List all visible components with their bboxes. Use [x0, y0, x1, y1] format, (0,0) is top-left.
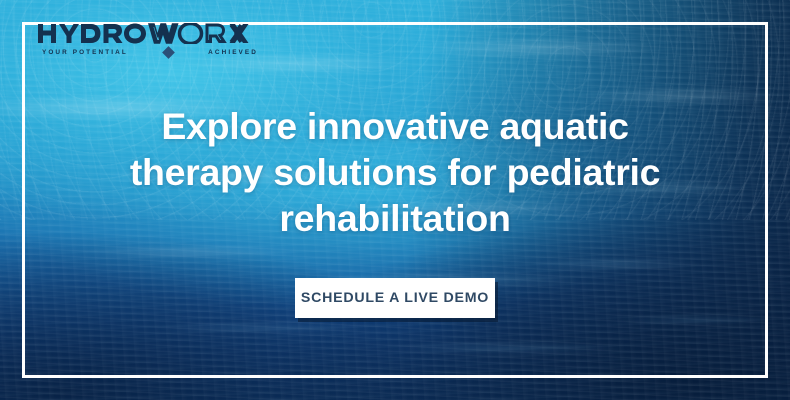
- logo-tagline: YOUR POTENTIAL ACHIEVED: [38, 48, 260, 57]
- headline-line-2: therapy solutions for pediatric: [78, 149, 712, 195]
- headline-line-3: rehabilitation: [78, 195, 712, 241]
- hydroworx-logo[interactable]: YOUR POTENTIAL ACHIEVED: [38, 23, 260, 57]
- headline-line-1: Explore innovative aquatic: [78, 103, 712, 149]
- schedule-demo-button[interactable]: SCHEDULE A LIVE DEMO: [295, 278, 495, 318]
- diamond-icon: [162, 46, 175, 59]
- promo-banner: YOUR POTENTIAL ACHIEVED Explore innovati…: [0, 0, 790, 400]
- headline: Explore innovative aquatic therapy solut…: [0, 103, 790, 241]
- hydroworx-wordmark-icon: [38, 23, 258, 44]
- tagline-left-text: YOUR POTENTIAL: [42, 49, 128, 56]
- tagline-right-text: ACHIEVED: [208, 49, 258, 56]
- cta-container: SCHEDULE A LIVE DEMO: [0, 278, 790, 318]
